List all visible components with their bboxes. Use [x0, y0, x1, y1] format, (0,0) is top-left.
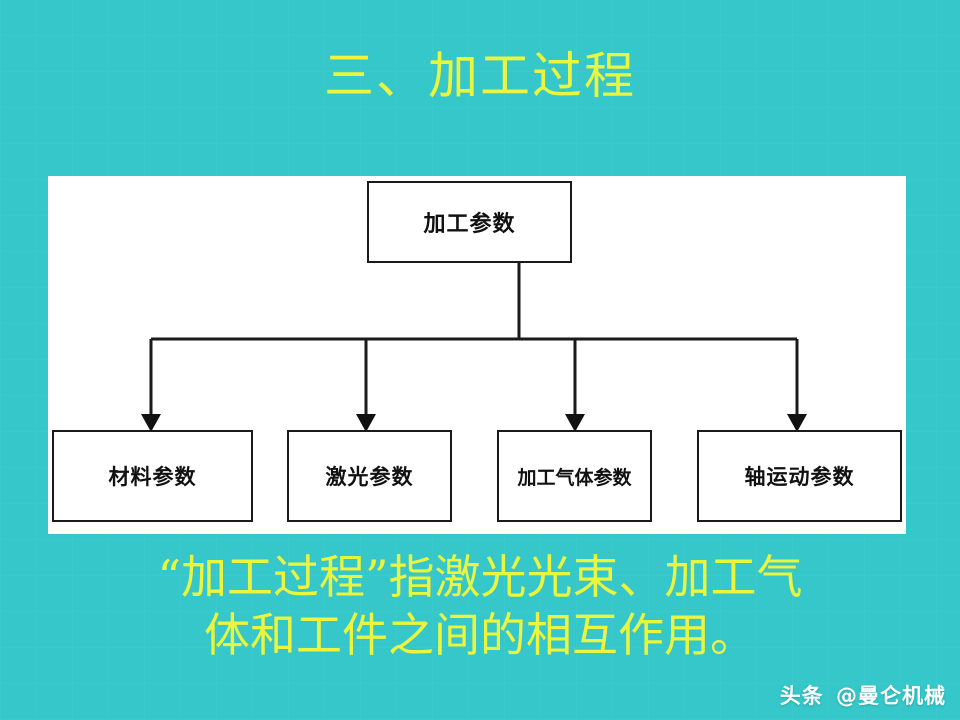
- node-child-1[interactable]: 材料参数: [52, 430, 253, 522]
- node-root-label: 加工参数: [423, 206, 515, 238]
- slide-caption: “加工过程”指激光光束、加工气 体和工件之间的相互作用。: [0, 548, 960, 664]
- node-child-2[interactable]: 激光参数: [287, 430, 452, 522]
- caption-line-1: “加工过程”指激光光束、加工气: [0, 548, 960, 606]
- watermark: 头条 @曼仑机械: [780, 680, 946, 710]
- node-child-3[interactable]: 加工气体参数: [497, 430, 652, 522]
- node-child-4[interactable]: 轴运动参数: [697, 430, 902, 522]
- node-child-1-label: 材料参数: [109, 461, 197, 491]
- watermark-brand: 头条: [780, 684, 824, 708]
- watermark-handle: @曼仑机械: [836, 684, 946, 708]
- node-child-4-label: 轴运动参数: [745, 461, 855, 491]
- node-child-3-label: 加工气体参数: [517, 463, 631, 490]
- page-title: 三、加工过程: [0, 46, 960, 106]
- diagram-panel: 加工参数 材料参数 激光参数 加工气体参数 轴运动参数: [48, 176, 906, 534]
- node-root[interactable]: 加工参数: [367, 181, 572, 263]
- caption-line-2: 体和工件之间的相互作用。: [0, 606, 960, 664]
- slide-canvas: 三、加工过程 加工参数 材料参数 激光参数 加工: [0, 0, 960, 720]
- node-child-2-label: 激光参数: [326, 461, 414, 491]
